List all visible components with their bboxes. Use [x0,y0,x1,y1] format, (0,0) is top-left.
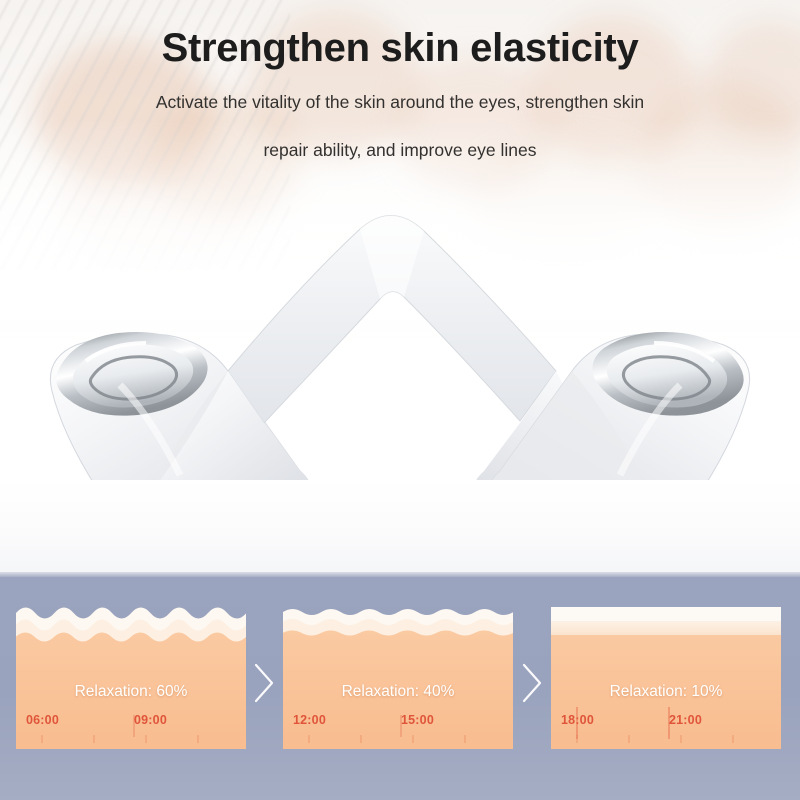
time-axis-1: 06:00 09:00 [16,713,246,739]
skin-panel-1: Relaxation: 60% 06:00 09:00 [16,607,246,749]
chevron-right-icon [251,661,277,705]
marketing-image-stage: Strengthen skin elasticity Activate the … [0,0,800,800]
time-label-end: 09:00 [134,713,167,727]
time-axis-2: 12:00 15:00 [283,713,513,739]
time-label-start: 06:00 [26,713,59,727]
relaxation-label: Relaxation: 40% [283,683,513,701]
time-label-start: 18:00 [561,713,594,727]
hero-section: Strengthen skin elasticity Activate the … [0,0,800,578]
time-label-start: 12:00 [293,713,326,727]
skin-panel-2: Relaxation: 40% 12:00 15:00 [283,607,513,749]
product-image [0,185,800,515]
relaxation-label: Relaxation: 60% [16,683,246,701]
comparison-band: Relaxation: 60% 06:00 09:00 [0,577,800,800]
skin-panel-3: Relaxation: 10% 18:00 21:00 [551,607,781,749]
subtitle-line-2: repair ability, and improve eye lines [0,140,800,161]
time-label-end: 21:00 [669,713,702,727]
product-floor-surface [0,480,800,578]
subtitle-line-1: Activate the vitality of the skin around… [0,92,800,113]
page-title: Strengthen skin elasticity [0,26,800,71]
comparison-panels: Relaxation: 60% 06:00 09:00 [0,577,800,800]
chevron-right-icon [519,661,545,705]
eye-massager-illustration [0,185,800,515]
time-axis-3: 18:00 21:00 [551,713,781,739]
relaxation-label: Relaxation: 10% [551,683,781,701]
time-label-end: 15:00 [401,713,434,727]
